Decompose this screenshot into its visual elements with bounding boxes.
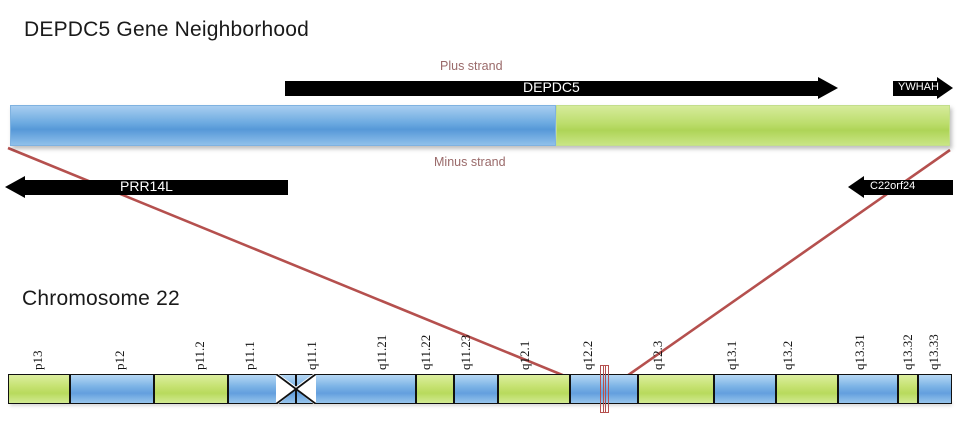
band-label-q13-33: q13.33 <box>926 334 942 370</box>
band-label-q12-1: q12.1 <box>517 341 533 370</box>
band-label-p12: p12 <box>112 351 128 371</box>
gene-arrow-prr14l[interactable]: PRR14L <box>5 176 288 199</box>
band-label-q13-32: q13.32 <box>900 334 916 370</box>
band-label-q12-2: q12.2 <box>580 341 596 370</box>
band-label-q13-2: q13.2 <box>780 341 796 370</box>
region-segment-blue <box>10 105 556 146</box>
arrow-head-right-icon <box>818 77 838 99</box>
region-highlight-marker-inner <box>603 365 606 413</box>
chromosome-title: Chromosome 22 <box>22 287 180 311</box>
chromosome-ideogram[interactable] <box>8 374 952 404</box>
ideogram-band-q11-21[interactable] <box>416 374 454 404</box>
band-label-q11-21: q11.21 <box>374 335 390 370</box>
band-label-q12-3: q12.3 <box>650 341 666 370</box>
chromosome-tip-left <box>7 372 21 406</box>
region-segment-green <box>556 105 950 146</box>
band-label-p11-1: p11.1 <box>242 341 258 370</box>
gene-arrow-ywhah[interactable]: YWHAH <box>893 77 953 100</box>
ideogram-band-q13-1[interactable] <box>776 374 838 404</box>
ideogram-band-p12[interactable] <box>70 374 154 404</box>
ideogram-band-q12-3[interactable] <box>714 374 776 404</box>
arrow-head-right-icon <box>937 77 953 99</box>
ideogram-band-p11-2[interactable] <box>154 374 228 404</box>
gene-arrow-c22orf24[interactable]: C22orf24 <box>848 176 953 199</box>
gene-label-ywhah: YWHAH <box>898 81 939 93</box>
plus-strand-label: Plus strand <box>440 59 503 73</box>
gene-label-c22orf24: C22orf24 <box>870 180 915 192</box>
chromosome-tip-right <box>939 372 953 406</box>
genomic-region-bar <box>10 105 950 146</box>
band-label-q11-23: q11.23 <box>458 335 474 370</box>
gene-arrow-depdc5[interactable]: DEPDC5 <box>285 77 838 100</box>
band-label-q13-31: q13.31 <box>852 334 868 370</box>
arrow-head-left-icon <box>5 176 25 198</box>
ideogram-band-q11-1[interactable] <box>296 374 416 404</box>
page-title: DEPDC5 Gene Neighborhood <box>24 18 309 42</box>
band-label-p13: p13 <box>30 351 46 371</box>
gene-label-depdc5: DEPDC5 <box>523 79 580 95</box>
ideogram-band-q13-2[interactable] <box>838 374 898 404</box>
ideogram-band-p11-1[interactable] <box>228 374 296 404</box>
ideogram-band-q13-31[interactable] <box>898 374 918 404</box>
arrow-head-left-icon <box>848 176 864 198</box>
band-label-p11-2: p11.2 <box>192 341 208 370</box>
band-label-q11-22: q11.22 <box>418 335 434 370</box>
band-label-q11-1: q11.1 <box>304 341 320 370</box>
ideogram-band-q11-22[interactable] <box>454 374 498 404</box>
band-label-q13-1: q13.1 <box>724 341 740 370</box>
ideogram-band-q12-2[interactable] <box>638 374 714 404</box>
gene-label-prr14l: PRR14L <box>120 178 173 194</box>
minus-strand-label: Minus strand <box>434 155 506 169</box>
ideogram-band-q11-23[interactable] <box>498 374 570 404</box>
diagram-canvas: DEPDC5 Gene Neighborhood Chromosome 22 P… <box>0 0 960 423</box>
